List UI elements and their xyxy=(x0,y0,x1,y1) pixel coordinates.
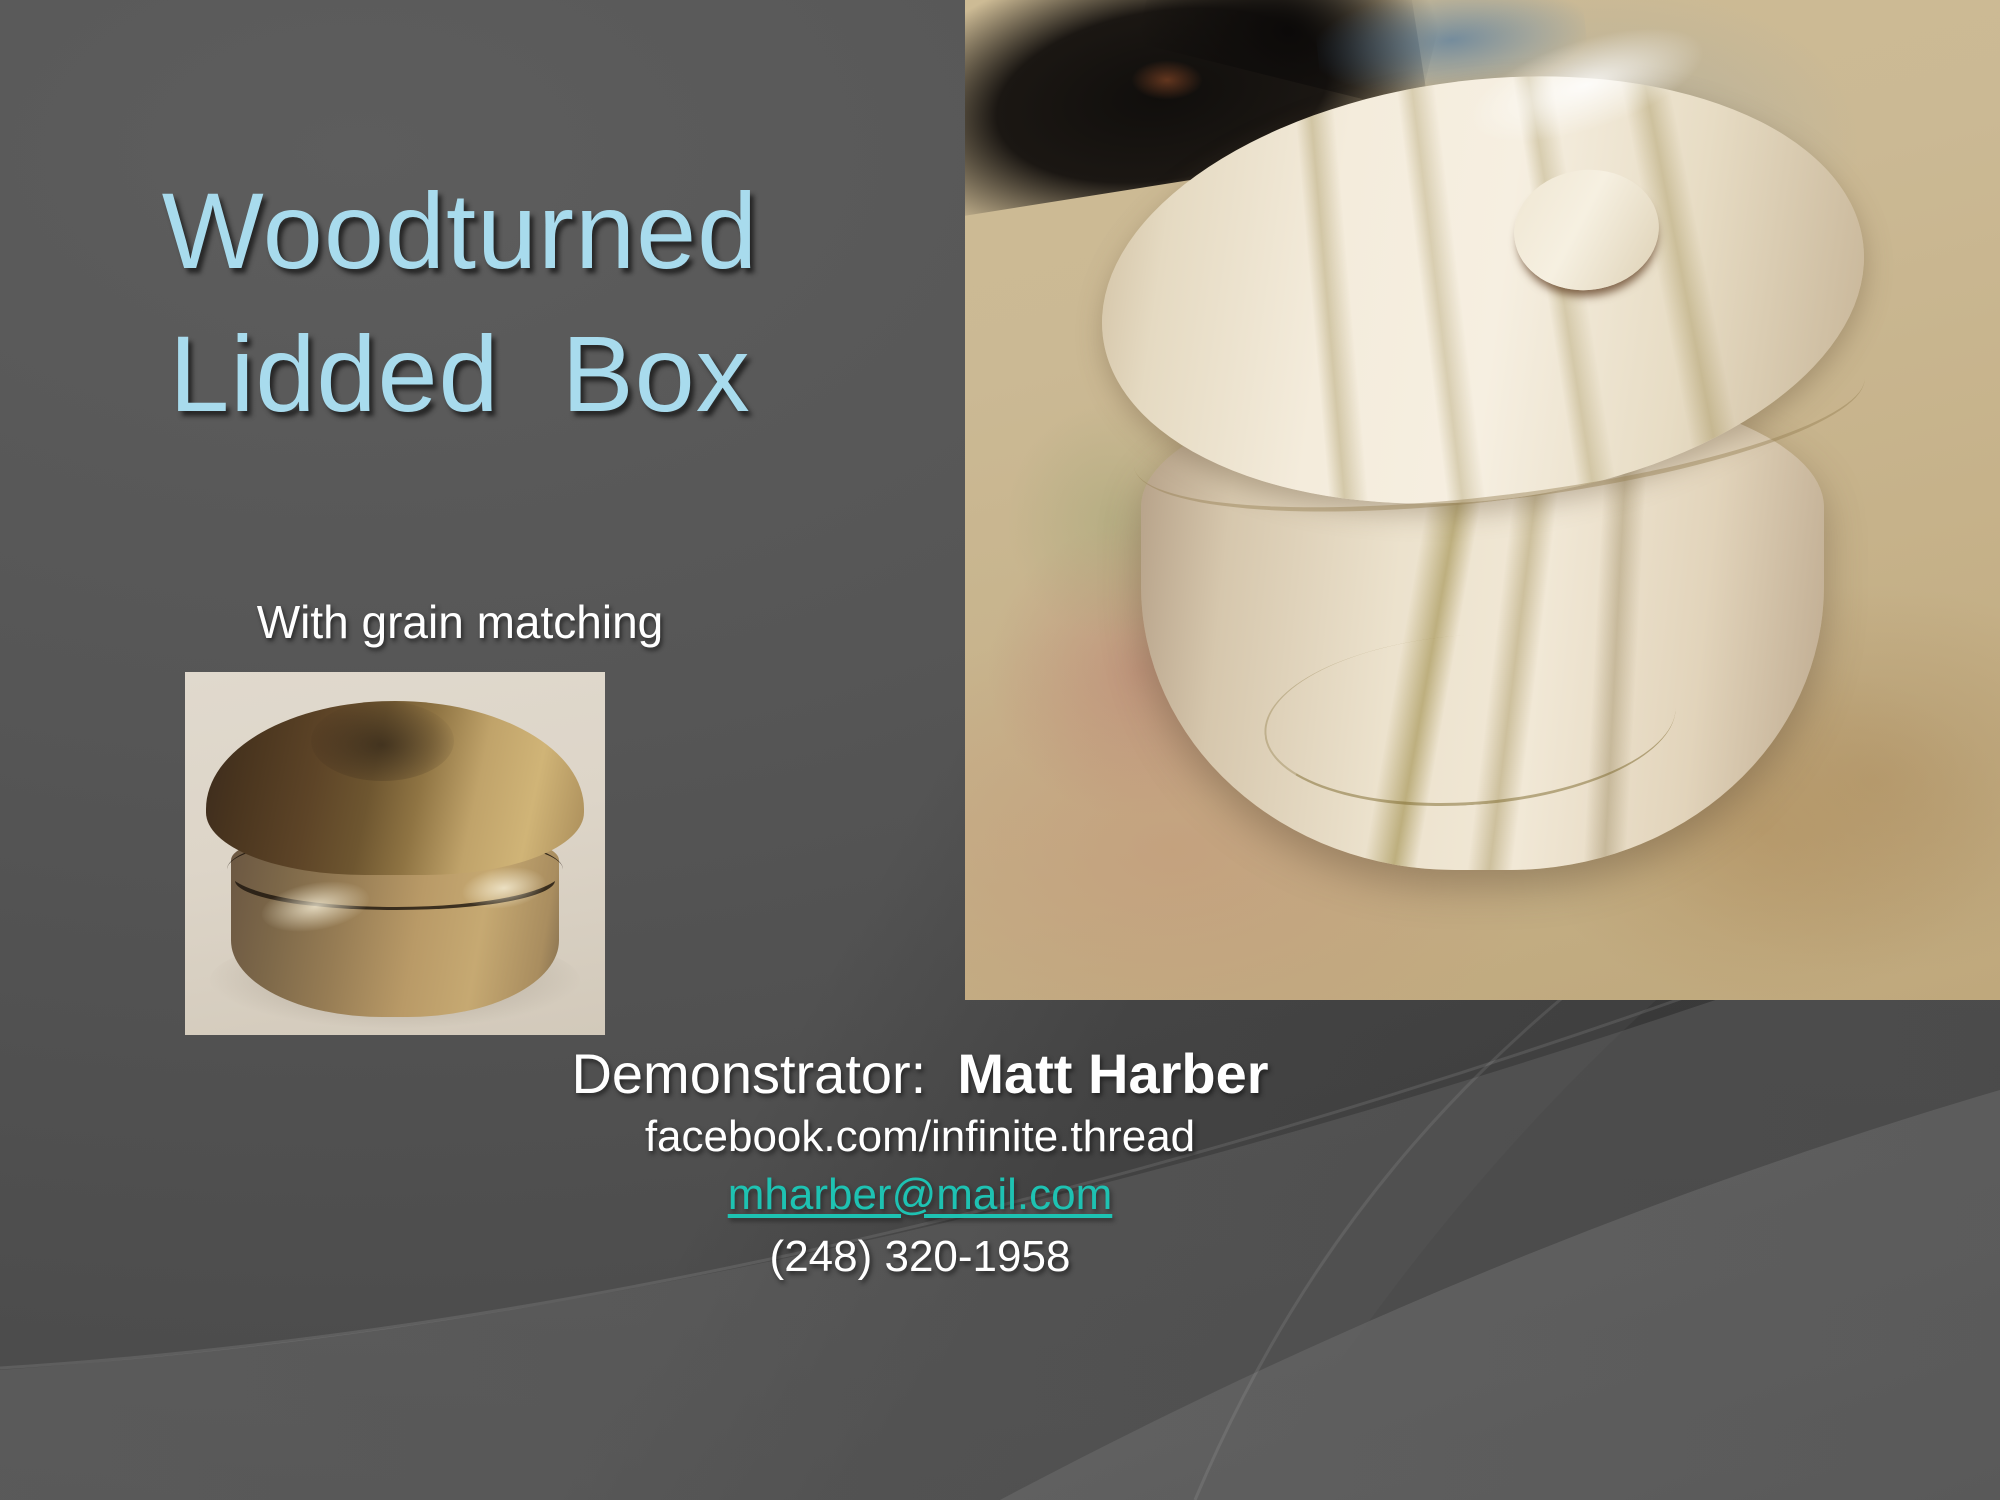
page-title: Woodturned Lidded Box xyxy=(60,160,860,445)
phone-number: (248) 320-1958 xyxy=(340,1223,1500,1291)
title-line-1: Woodturned xyxy=(60,160,860,303)
presentation-slide: Woodturned Lidded Box With grain matchin… xyxy=(0,0,2000,1500)
demonstrator-label: Demonstrator: xyxy=(571,1042,957,1105)
slide-subtitle: With grain matching xyxy=(60,595,860,650)
title-line-2: Lidded Box xyxy=(60,303,860,446)
demonstrator-contact-block: Demonstrator: Matt Harber facebook.com/i… xyxy=(340,1040,1500,1291)
facebook-handle: facebook.com/infinite.thread xyxy=(340,1108,1500,1165)
email-line: mharber@mail.com xyxy=(340,1166,1500,1223)
demonstrator-name: Matt Harber xyxy=(957,1042,1268,1105)
demonstrator-line: Demonstrator: Matt Harber xyxy=(340,1040,1500,1108)
inset-photo-finished-box xyxy=(185,672,605,1035)
finished-box-lid-dimple xyxy=(311,701,454,781)
main-photo-unfinished-box xyxy=(965,0,2000,1000)
orange-paint-spot xyxy=(1131,60,1203,100)
email-link[interactable]: mharber@mail.com xyxy=(728,1166,1113,1223)
